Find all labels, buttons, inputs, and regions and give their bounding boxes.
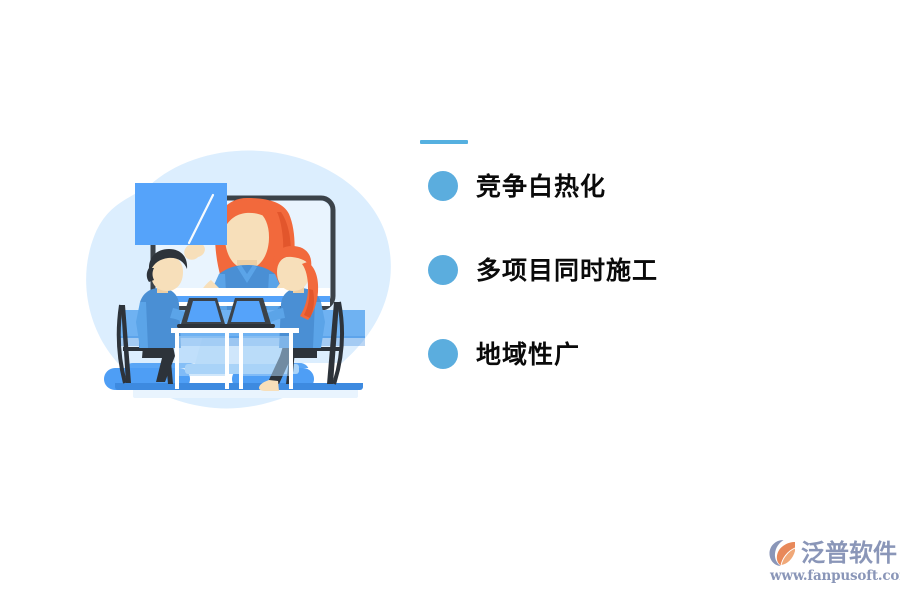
bullet-list: 竞争白热化 多项目同时施工 地域性广 <box>420 140 850 396</box>
logo-row: 泛普软件 <box>768 538 897 568</box>
bullet-label-1: 竞争白热化 <box>476 174 606 199</box>
logo-brand-name: 泛普软件 <box>801 539 897 567</box>
fanpu-logo: 泛普软件 www.fanpusoft.com <box>768 538 892 588</box>
slide-canvas: 竞争白热化 多项目同时施工 地域性广 泛普软件 www.fanpusoft.co… <box>0 0 900 600</box>
bullet-item-1: 竞争白热化 <box>428 144 850 228</box>
bullet-dot-icon <box>428 339 458 369</box>
bullet-item-3: 地域性广 <box>428 312 850 396</box>
bullet-label-2: 多项目同时施工 <box>476 258 658 283</box>
bullet-dot-icon <box>428 255 458 285</box>
presentation-board <box>135 183 227 245</box>
bullet-label-3: 地域性广 <box>476 342 580 367</box>
online-classroom-illustration <box>85 150 400 425</box>
fanpu-leaf-mark-icon <box>768 539 798 567</box>
logo-website-url: www.fanpusoft.com <box>768 568 900 584</box>
bullet-dot-icon <box>428 171 458 201</box>
bullet-item-2: 多项目同时施工 <box>428 228 850 312</box>
